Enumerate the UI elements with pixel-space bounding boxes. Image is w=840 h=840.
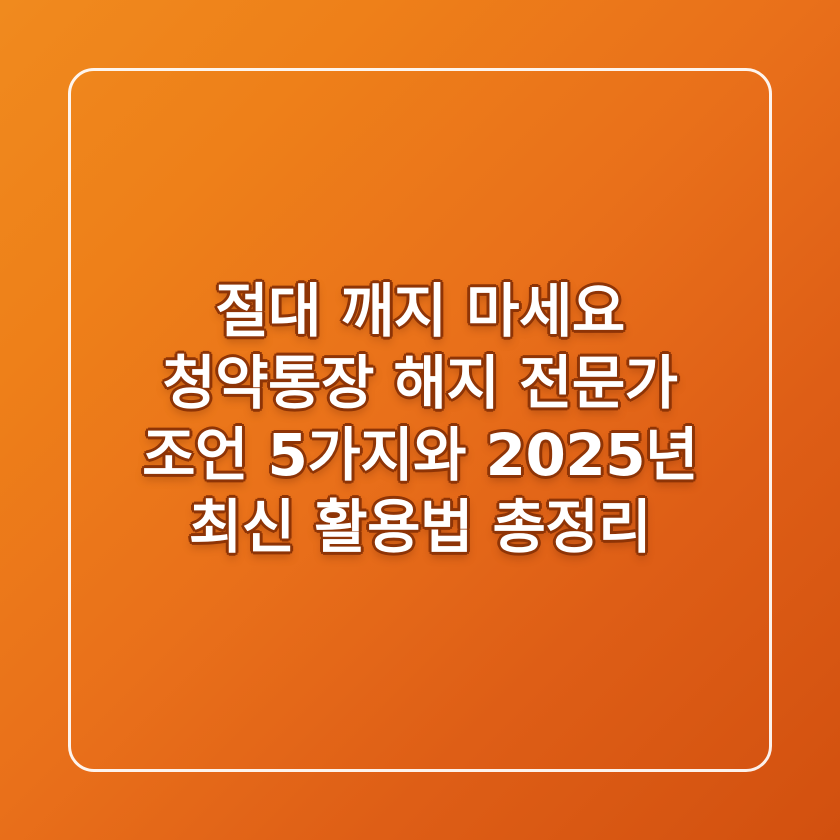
poster-title: 절대 깨지 마세요 청약통장 해지 전문가 조언 5가지와 2025년 최신 활…: [0, 0, 840, 840]
title-line-1: 절대 깨지 마세요: [215, 276, 624, 348]
title-line-3: 조언 5가지와 2025년: [142, 420, 698, 492]
title-line-2: 청약통장 해지 전문가: [162, 348, 677, 420]
poster-card: 절대 깨지 마세요 청약통장 해지 전문가 조언 5가지와 2025년 최신 활…: [0, 0, 840, 840]
title-line-4: 최신 활용법 총정리: [189, 492, 651, 564]
